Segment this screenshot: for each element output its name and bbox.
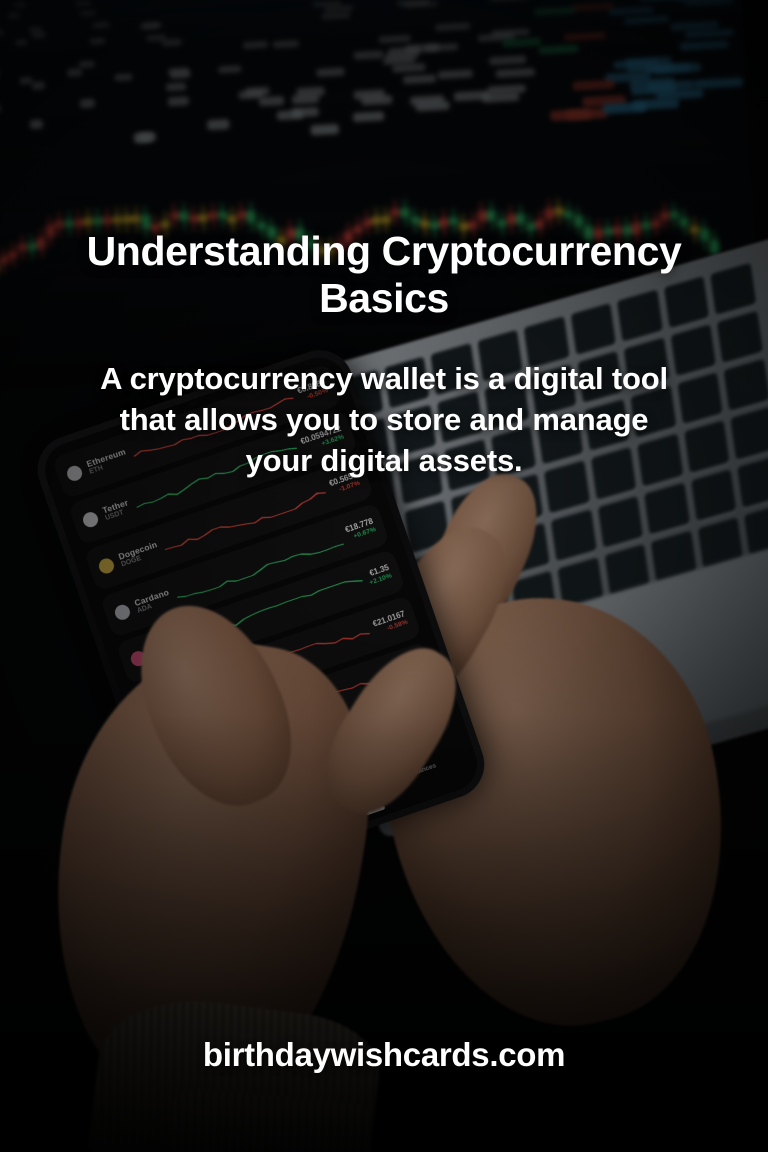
- page-body-text: A cryptocurrency wallet is a digital too…: [92, 358, 676, 482]
- page-title: Understanding Cryptocurrency Basics: [22, 228, 746, 321]
- page-title-line-2: Basics: [319, 275, 449, 321]
- footer-website-url: birthdaywishcards.com: [0, 1036, 768, 1074]
- text-overlay: Understanding Cryptocurrency Basics A cr…: [0, 0, 768, 1152]
- page-title-line-1: Understanding Cryptocurrency: [87, 228, 682, 274]
